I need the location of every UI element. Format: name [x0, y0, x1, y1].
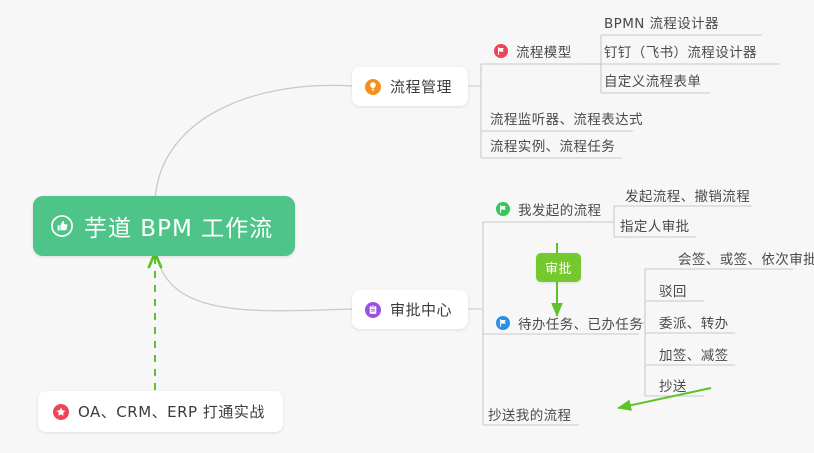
- node-delegate-transfer-label: 委派、转办: [659, 312, 729, 332]
- flag-icon: [496, 316, 510, 330]
- node-process-management-label: 流程管理: [390, 76, 452, 97]
- thumbs-up-icon: [51, 215, 73, 237]
- node-reject-label: 驳回: [659, 280, 687, 300]
- node-process-model[interactable]: 流程模型: [494, 41, 572, 61]
- node-cc-to-me[interactable]: 抄送我的流程: [488, 404, 571, 424]
- root-label: 芋道 BPM 工作流: [84, 209, 273, 243]
- node-my-initiated-label: 我发起的流程: [518, 199, 601, 219]
- edge-root-to-process-management: [155, 85, 352, 200]
- flag-icon: [496, 202, 510, 216]
- node-custom-process-form-label: 自定义流程表单: [604, 70, 701, 90]
- node-my-initiated[interactable]: 我发起的流程: [496, 199, 601, 219]
- node-custom-process-form[interactable]: 自定义流程表单: [604, 70, 701, 90]
- node-multi-approval-label: 会签、或签、依次审批: [678, 248, 814, 268]
- approval-badge[interactable]: 审批: [536, 253, 581, 282]
- clipboard-icon: [365, 302, 381, 318]
- integration-callout[interactable]: OA、CRM、ERP 打通实战: [38, 391, 283, 432]
- node-approval-center-label: 审批中心: [390, 299, 452, 320]
- node-assignee-approval-label: 指定人审批: [620, 215, 690, 235]
- node-start-cancel[interactable]: 发起流程、撤销流程: [625, 185, 750, 205]
- node-cc-to-me-label: 抄送我的流程: [488, 404, 571, 424]
- node-start-cancel-label: 发起流程、撤销流程: [625, 185, 750, 205]
- node-add-remove-sign-label: 加签、减签: [659, 344, 729, 364]
- node-bpmn-designer[interactable]: BPMN 流程设计器: [604, 12, 719, 32]
- node-multi-approval[interactable]: 会签、或签、依次审批: [678, 248, 814, 268]
- node-todo-done[interactable]: 待办任务、已办任务: [496, 313, 643, 333]
- integration-callout-label: OA、CRM、ERP 打通实战: [78, 401, 265, 422]
- node-bpmn-designer-label: BPMN 流程设计器: [604, 12, 719, 32]
- node-dingtalk-feishu-designer-label: 钉钉（飞书）流程设计器: [604, 41, 757, 61]
- node-approval-center[interactable]: 审批中心: [352, 290, 468, 329]
- node-cc-label: 抄送: [659, 375, 687, 395]
- lightbulb-icon: [365, 79, 381, 95]
- flag-icon: [494, 44, 508, 58]
- star-icon: [53, 404, 69, 420]
- node-instance-task[interactable]: 流程实例、流程任务: [490, 135, 615, 155]
- node-instance-task-label: 流程实例、流程任务: [490, 135, 615, 155]
- node-todo-done-label: 待办任务、已办任务: [518, 313, 643, 333]
- root-node[interactable]: 芋道 BPM 工作流: [33, 196, 295, 256]
- node-assignee-approval[interactable]: 指定人审批: [620, 215, 690, 235]
- node-listener-expression-label: 流程监听器、流程表达式: [490, 108, 643, 128]
- node-dingtalk-feishu-designer[interactable]: 钉钉（飞书）流程设计器: [604, 41, 757, 61]
- node-process-management[interactable]: 流程管理: [352, 67, 468, 106]
- node-process-model-label: 流程模型: [516, 41, 572, 61]
- node-add-remove-sign[interactable]: 加签、减签: [659, 344, 729, 364]
- mindmap-canvas: 芋道 BPM 工作流 流程管理 流程模型 BPMN 流程设计器 钉钉（飞书）流程: [0, 0, 814, 453]
- node-cc[interactable]: 抄送: [659, 375, 687, 395]
- node-delegate-transfer[interactable]: 委派、转办: [659, 312, 729, 332]
- node-listener-expression[interactable]: 流程监听器、流程表达式: [490, 108, 643, 128]
- node-reject[interactable]: 驳回: [659, 280, 687, 300]
- approval-badge-label: 审批: [545, 258, 572, 277]
